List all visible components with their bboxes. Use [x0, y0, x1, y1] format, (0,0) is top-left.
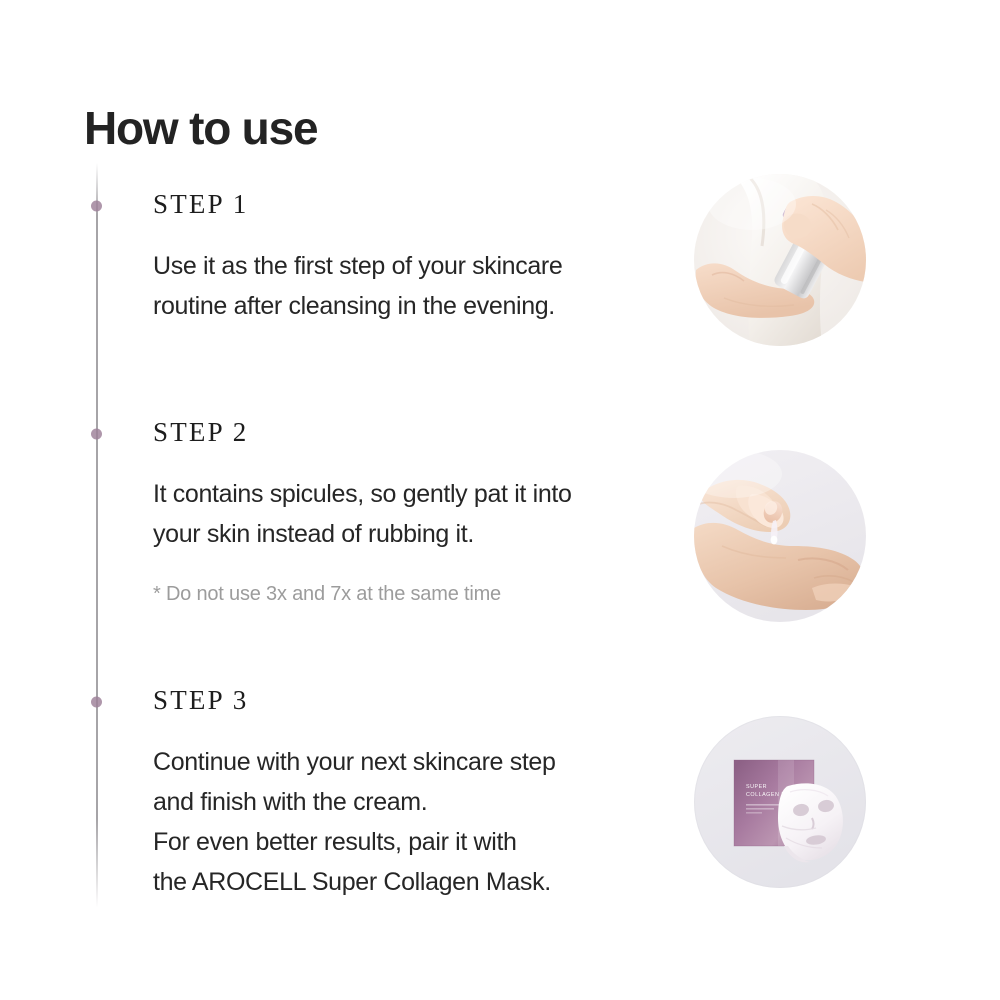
step-3-body-line-3: For even better results, pair it with	[153, 822, 653, 862]
page-title: How to use	[84, 103, 317, 154]
timeline-dot-step-2	[91, 429, 102, 440]
step-1-label: STEP 1	[153, 190, 653, 220]
how-to-use-page: How to use STEP 1 Use it as the first st…	[0, 0, 1000, 1000]
step-1-block: STEP 1 Use it as the first step of your …	[153, 190, 653, 326]
step-2-body-line-1: It contains spicules, so gently pat it i…	[153, 474, 653, 514]
collagen-mask-product-photo: SUPER COLLAGEN MASK	[694, 716, 866, 888]
step-3-body-line-1: Continue with your next skincare step	[153, 742, 653, 782]
step-2-body-line-2: your skin instead of rubbing it.	[153, 514, 653, 554]
step-2-label: STEP 2	[153, 418, 653, 448]
timeline-line	[96, 163, 98, 908]
mask-box-line-1: SUPER	[746, 784, 767, 790]
step-3-block: STEP 3 Continue with your next skincare …	[153, 686, 653, 902]
step-3-body: Continue with your next skincare step an…	[153, 742, 653, 902]
step-3-body-line-2: and finish with the cream.	[153, 782, 653, 822]
timeline-dot-step-3	[91, 697, 102, 708]
step-2-body: It contains spicules, so gently pat it i…	[153, 474, 653, 554]
step-2-note: * Do not use 3x and 7x at the same time	[153, 580, 653, 608]
step-3-body-line-4: the AROCELL Super Collagen Mask.	[153, 862, 653, 902]
step-1-body-line-2: routine after cleansing in the evening.	[153, 286, 653, 326]
patting-serum-photo	[694, 450, 866, 622]
timeline-dot-step-1	[91, 201, 102, 212]
dispensing-serum-photo	[694, 174, 866, 346]
step-2-block: STEP 2 It contains spicules, so gently p…	[153, 418, 653, 608]
step-1-body: Use it as the first step of your skincar…	[153, 246, 653, 326]
step-3-label: STEP 3	[153, 686, 653, 716]
step-1-body-line-1: Use it as the first step of your skincar…	[153, 246, 653, 286]
